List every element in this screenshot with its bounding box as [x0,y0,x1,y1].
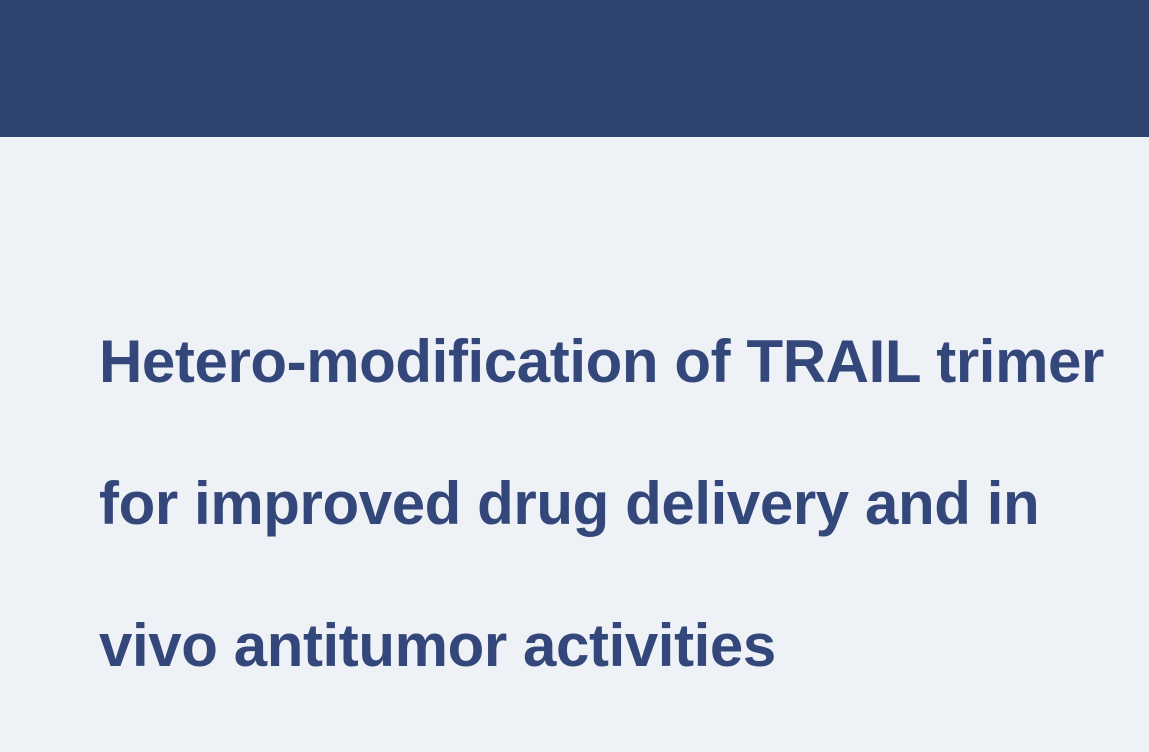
page-title-line-1: Hetero-modification of TRAIL trimer [99,326,1089,397]
content-area: Hetero-modification of TRAIL trimer for … [0,137,1149,727]
page-title-line-3: vivo antitumor activities [99,610,1089,681]
page-title-line-2: for improved drug delivery and in [99,468,1089,539]
title-block: Hetero-modification of TRAIL trimer for … [99,255,1089,752]
page-title: Hetero-modification of TRAIL trimer for … [99,255,1089,752]
title-card-page: Hetero-modification of TRAIL trimer for … [0,0,1149,727]
header-band [0,0,1149,137]
